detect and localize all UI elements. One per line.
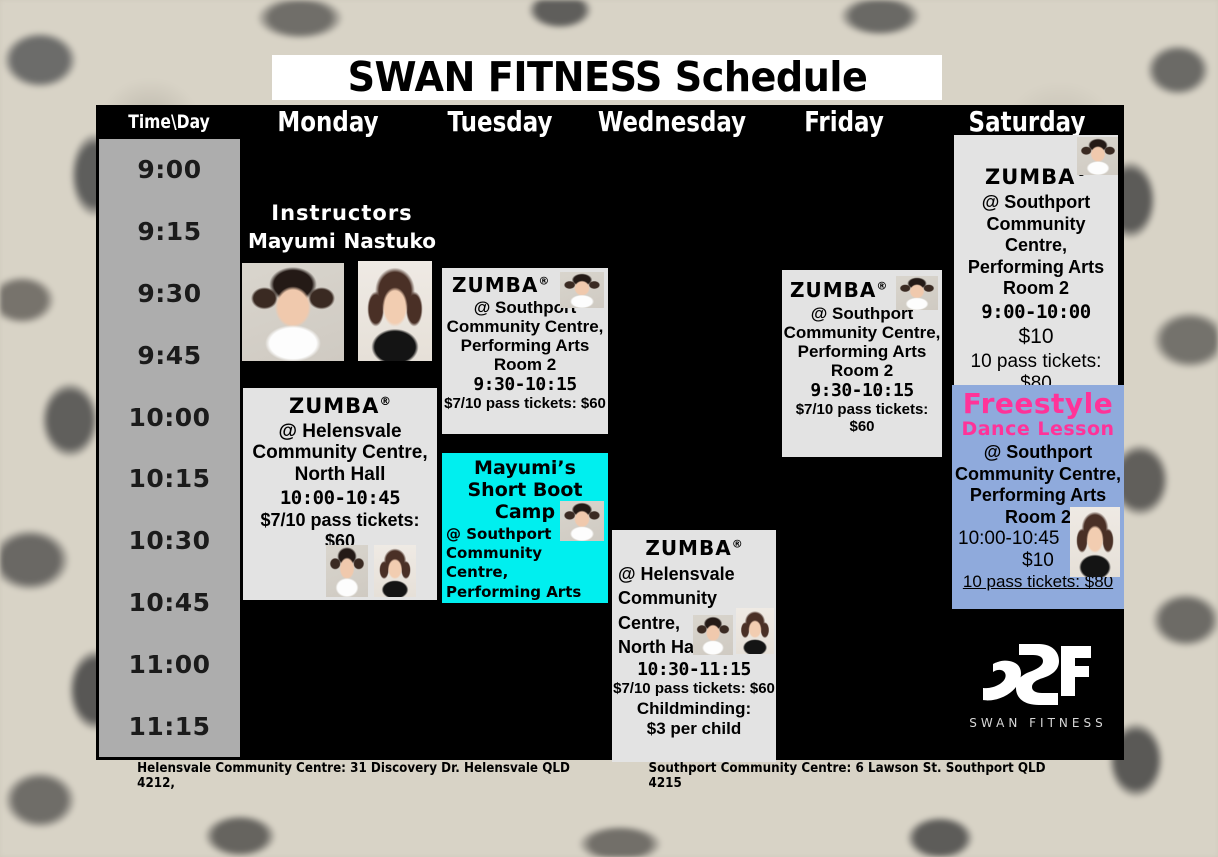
class-card-tuesday-zumba[interactable]: ZUMBA® @ Southport Community Centre, Per… [442, 268, 608, 434]
class-venue-line: Community Centre, [952, 464, 1124, 486]
class-card-friday-zumba[interactable]: ZUMBA® @ Southport Community Centre, Per… [782, 270, 942, 457]
logo-wordmark: SWAN FITNESS [969, 716, 1106, 730]
class-time: 9:30-10:15 [442, 374, 608, 395]
class-venue-line: @ Helensvale [243, 421, 437, 442]
class-venue-line: @ Southport [954, 192, 1118, 214]
time-slot: 9:00 [99, 139, 240, 201]
class-price: $7/10 pass tickets: $60 [442, 395, 608, 412]
class-price: $7/10 pass tickets: $60 [782, 401, 942, 435]
column-header-wednesday: Wednesday [601, 105, 742, 139]
class-venue-line: @ Helensvale [618, 562, 776, 586]
page-title: SWAN FITNESS Schedule [347, 57, 867, 98]
footer-address-helensvale: Helensvale Community Centre: 31 Discover… [137, 761, 612, 791]
time-slot: 10:45 [99, 572, 240, 634]
childminding-label: Childminding: [612, 699, 776, 719]
instructor-name-nastuko: Nastuko [344, 229, 436, 253]
class-venue-line: @ Southport [952, 442, 1124, 464]
instructor-photo-nastuko [358, 261, 432, 361]
time-slot: 9:45 [99, 324, 240, 386]
class-venue-line: Performing Arts Room2 [446, 583, 608, 603]
class-venue-line: Performing Arts [442, 336, 608, 355]
class-pass-amount: $80 [954, 373, 1118, 385]
instructor-thumb-mayumi [560, 501, 604, 541]
instructor-thumb-mayumi [326, 545, 368, 597]
class-card-monday-zumba[interactable]: ZUMBA® @ Helensvale Community Centre, No… [243, 388, 437, 600]
time-slot: 10:00 [99, 386, 240, 448]
class-time: 10:30-11:15 [612, 659, 776, 680]
time-column: 9:00 9:15 9:30 9:45 10:00 10:15 10:30 10… [99, 139, 240, 757]
class-price: $10 [954, 325, 1118, 349]
instructor-thumb-mayumi [1077, 137, 1118, 175]
column-header-time: Time\Day [109, 105, 229, 139]
instructors-heading: Instructors [244, 201, 440, 225]
class-venue-line: Room 2 [782, 361, 942, 380]
time-slot: 9:15 [99, 201, 240, 263]
column-header-friday: Friday [773, 105, 914, 139]
swan-logo-icon [979, 640, 1097, 714]
column-header-tuesday: Tuesday [429, 105, 570, 139]
class-venue-line: Community Centre, [782, 323, 942, 342]
class-venue-line: Community [618, 586, 776, 610]
column-header-monday: Monday [257, 105, 398, 139]
class-venue-line: Performing Arts [782, 342, 942, 361]
swan-fitness-logo: SWAN FITNESS [958, 625, 1118, 745]
class-time: 9:30-10:15 [782, 380, 942, 401]
time-slot: 11:00 [99, 633, 240, 695]
class-title: Freestyle [952, 390, 1124, 418]
page-title-band: SWAN FITNESS Schedule [272, 55, 942, 100]
instructor-photo-mayumi [242, 263, 344, 361]
class-title: ZUMBA® [612, 536, 776, 560]
class-pass-label: 10 pass tickets: [954, 351, 1118, 373]
instructor-thumb-nastuko [1070, 507, 1120, 577]
time-slot: 10:15 [99, 448, 240, 510]
class-venue-line: Performing Arts [954, 257, 1118, 279]
class-time: 10:00-10:45 [243, 487, 437, 509]
class-venue-line: Room 2 [954, 278, 1118, 300]
class-card-saturday-zumba[interactable]: ZUMBA® @ Southport Community Centre, Per… [954, 135, 1118, 385]
time-slot: 10:30 [99, 510, 240, 572]
class-card-saturday-freestyle[interactable]: Freestyle Dance Lesson @ Southport Commu… [952, 385, 1124, 609]
class-venue-line: Community Centre, [243, 442, 437, 463]
instructor-name-mayumi: Mayumi [248, 229, 336, 253]
schedule-grid: Time\Day Monday Tuesday Wednesday Friday… [96, 105, 1124, 760]
class-card-tuesday-bootcamp[interactable]: Mayumi’s Short Boot Camp @ Southport Com… [442, 453, 608, 603]
class-venue-line: Community Centre, [442, 317, 608, 336]
time-slot: 11:15 [99, 695, 240, 757]
instructor-thumb-nastuko [736, 608, 774, 654]
footer-address-southport: Southport Community Centre: 6 Lawson St.… [649, 761, 1083, 791]
class-venue-line: Community Centre, [954, 214, 1118, 257]
schedule-header-row: Time\Day Monday Tuesday Wednesday Friday… [96, 105, 1124, 139]
class-subtitle: Dance Lesson [952, 418, 1124, 440]
class-title: ZUMBA® [243, 394, 437, 418]
time-slot: 9:30 [99, 263, 240, 325]
class-time: 9:00-10:00 [954, 301, 1118, 323]
instructor-thumb-mayumi [560, 272, 604, 308]
childminding-price: $3 per child [612, 719, 776, 739]
class-card-wednesday-zumba[interactable]: ZUMBA® @ Helensvale Community Centre, No… [612, 530, 776, 762]
column-header-saturday: Saturday [947, 105, 1106, 139]
instructor-thumb-nastuko [374, 545, 416, 597]
class-price: $7/10 pass tickets: $60 [612, 680, 776, 697]
footer-addresses: Helensvale Community Centre: 31 Discover… [137, 762, 1083, 790]
class-venue-line: Room 2 [442, 355, 608, 374]
instructor-thumb-mayumi [693, 615, 733, 655]
class-venue-line: Community Centre, [446, 544, 608, 582]
instructor-thumb-mayumi [896, 276, 938, 310]
class-venue-line: North Hall [243, 464, 437, 485]
class-venue-line: Performing Arts [952, 485, 1124, 507]
